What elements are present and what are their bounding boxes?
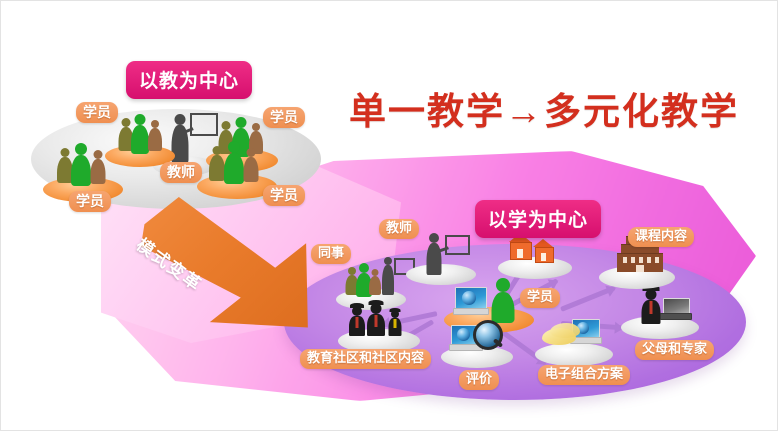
figure-student-brown-4 <box>242 148 260 180</box>
schoolhouse-icon-2 <box>534 237 554 264</box>
figure-teacher-right <box>421 233 447 273</box>
badge-learner-centered: 以学为中心 <box>475 200 601 238</box>
label-teacher: 教师 <box>379 219 419 239</box>
whiteboard-icon-left <box>190 113 218 136</box>
label-left-teacher: 教师 <box>160 162 202 183</box>
label-evaluation: 评价 <box>459 370 499 390</box>
label-curriculum: 课程内容 <box>628 227 694 247</box>
label-community: 教育社区和社区内容 <box>300 349 431 369</box>
label-left-student-1: 学员 <box>76 102 118 123</box>
label-colleagues: 同事 <box>311 244 351 264</box>
pedestal-eportfolio <box>535 343 613 366</box>
transition-arrow: 模式变革 <box>141 197 313 333</box>
label-learner: 学员 <box>520 288 560 308</box>
figure-community-2 <box>366 300 386 336</box>
label-eportfolio: 电子组合方案 <box>538 365 630 385</box>
figure-student-brown-1 <box>146 120 163 150</box>
portfolio-icon-back <box>550 323 580 338</box>
page-title: 单一教学→多元化教学 <box>349 81 739 135</box>
figure-expert <box>640 285 662 323</box>
whiteboard-icon-right <box>445 235 470 255</box>
figure-community-1 <box>348 303 366 335</box>
laptop-icon-expert <box>660 298 690 320</box>
label-parents: 父母和专家 <box>635 340 714 360</box>
figure-student-brown-2 <box>89 150 107 182</box>
figure-community-3 <box>387 308 402 335</box>
laptop-icon-center <box>453 287 487 315</box>
label-left-student-2: 学员 <box>263 107 305 128</box>
badge-teacher-centered: 以教为中心 <box>126 61 252 99</box>
infographic-canvas: 单一教学→多元化教学 以教为中心 <box>0 0 778 431</box>
label-left-student-3: 学员 <box>69 191 111 212</box>
figure-learner-center <box>489 278 517 320</box>
